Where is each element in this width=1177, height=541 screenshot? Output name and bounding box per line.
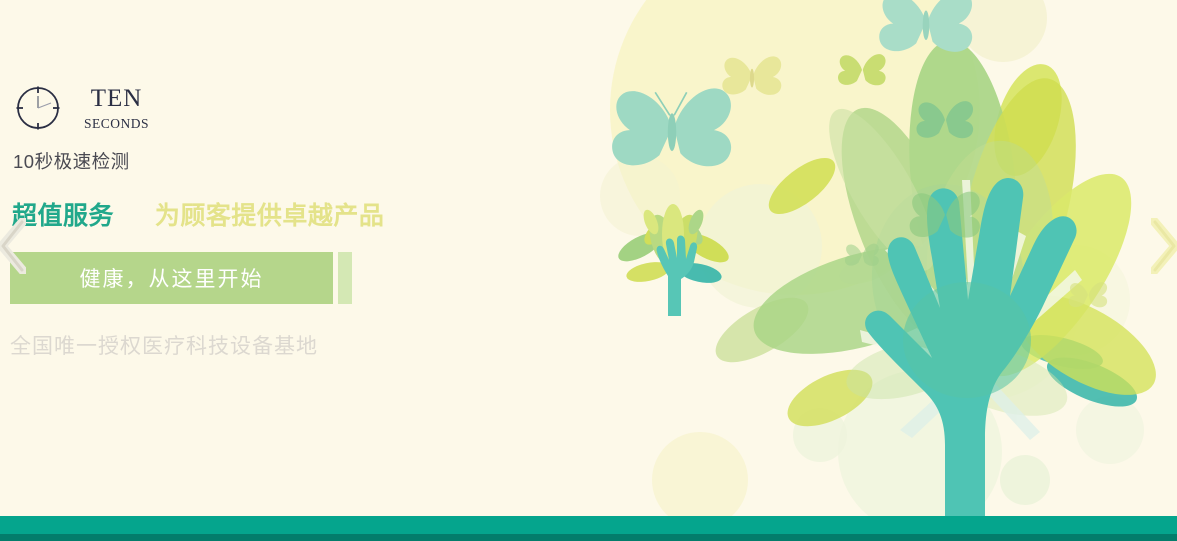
headline: 超值服务 为顾客提供卓越产品 <box>12 196 384 232</box>
cta-chip <box>338 252 352 304</box>
promo-banner: TEN SECONDS 10秒极速检测 超值服务 为顾客提供卓越产品 健康，从这… <box>0 0 1177 541</box>
banner-subtext: 全国唯一授权医疗科技设备基地 <box>10 330 318 360</box>
badge-subtitle: SECONDS <box>84 117 149 131</box>
badge-text: TEN SECONDS <box>84 86 149 131</box>
cta-button[interactable]: 健康，从这里开始 <box>10 252 333 304</box>
footer-bar-dark <box>0 534 1177 541</box>
chevron-right-icon[interactable] <box>1151 218 1177 274</box>
headline-rest: 为顾客提供卓越产品 <box>155 202 385 230</box>
ten-seconds-badge: TEN SECONDS <box>14 84 149 132</box>
chevron-left-icon[interactable] <box>0 218 26 274</box>
badge-caption: 10秒极速检测 <box>13 148 130 174</box>
cta-group: 健康，从这里开始 <box>10 252 352 304</box>
banner-copy: TEN SECONDS 10秒极速检测 超值服务 为顾客提供卓越产品 健康，从这… <box>0 0 440 541</box>
clock-icon <box>14 84 62 132</box>
footer-bar-light <box>0 516 1177 534</box>
headline-highlight: 超值服务 <box>12 202 114 230</box>
badge-title: TEN <box>84 86 149 111</box>
